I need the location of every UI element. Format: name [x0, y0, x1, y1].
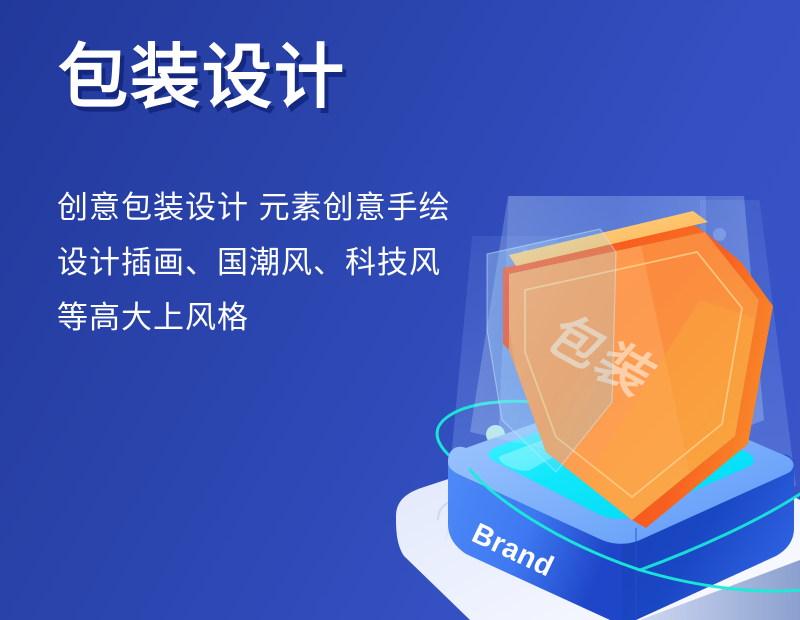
- packaging-design-banner: 包装设计 创意包装设计 元素创意手绘 设计插画、国潮风、科技风 等高大上风格: [0, 0, 800, 620]
- shield-platform-illustration: Brand 包装: [0, 0, 800, 620]
